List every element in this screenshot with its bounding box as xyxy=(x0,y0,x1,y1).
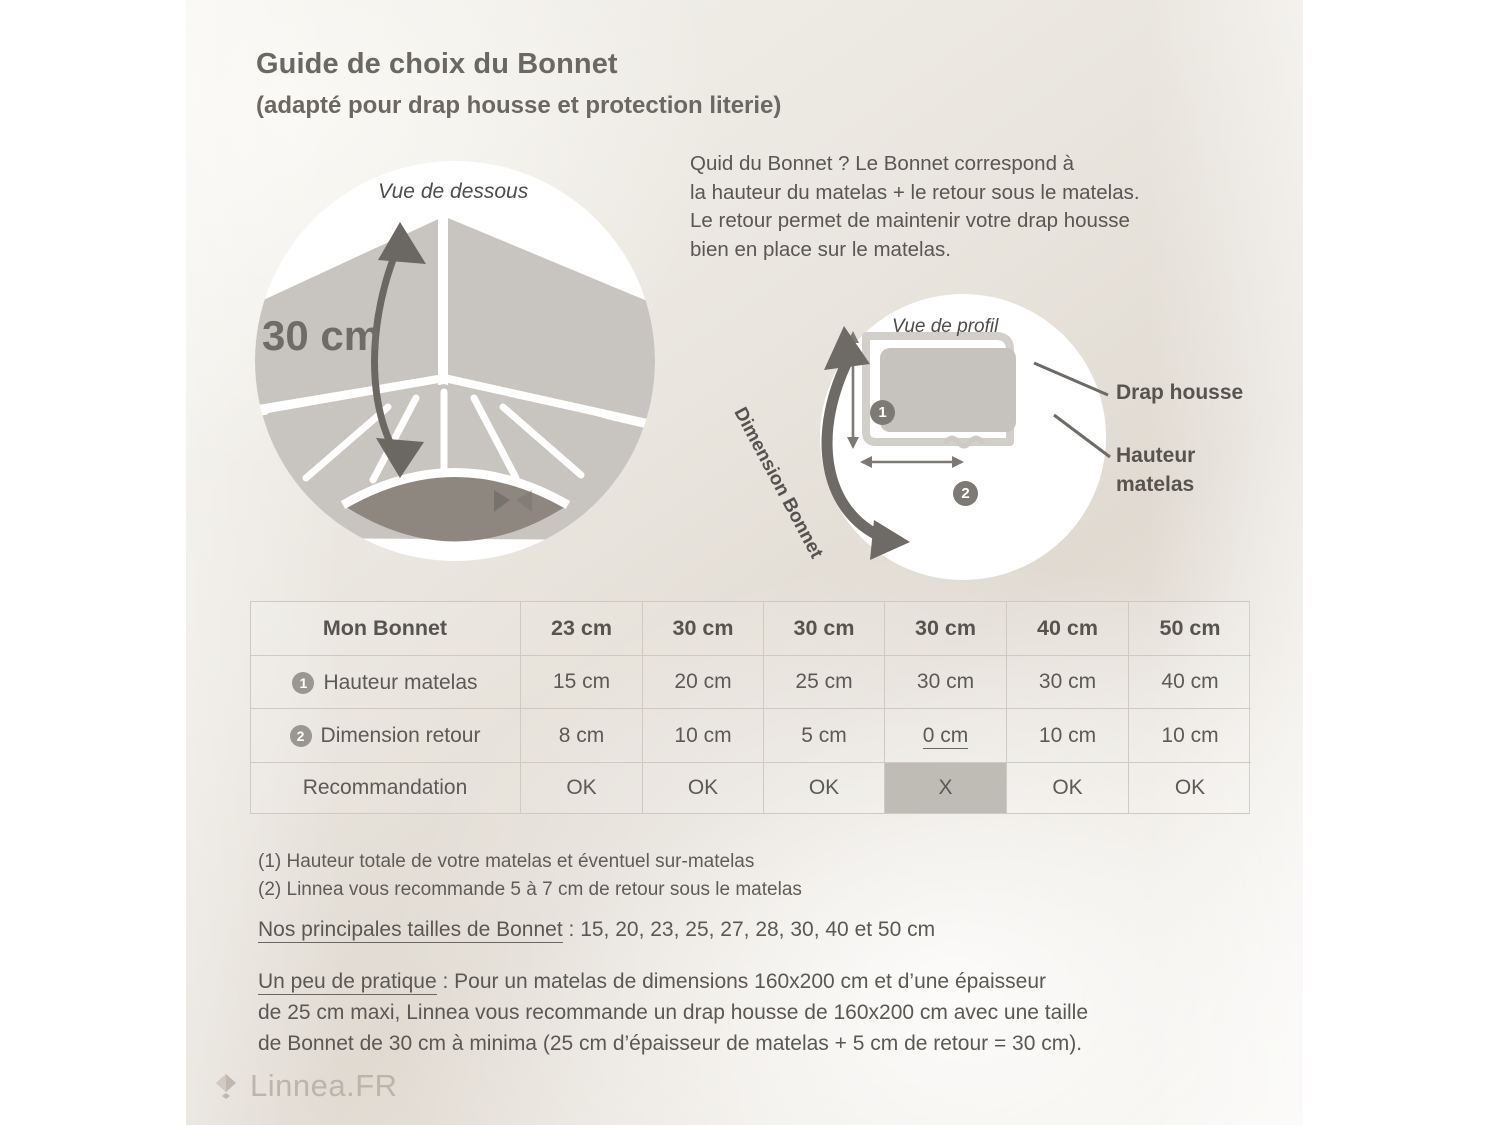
practice-line-3: de Bonnet de 30 cm à minima (25 cm d’épa… xyxy=(258,1028,1088,1059)
page-title: Guide de choix du Bonnet xyxy=(256,48,618,81)
callout-hauteur-line-1: Hauteur xyxy=(1116,441,1195,470)
table-cell: OK xyxy=(1007,763,1129,813)
footnotes: (1) Hauteur totale de votre matelas et é… xyxy=(258,848,802,904)
table-header-cell: 30 cm xyxy=(885,602,1007,656)
table-header-row-label: Mon Bonnet xyxy=(251,602,521,656)
bottom-view-diagram xyxy=(248,160,663,562)
table-cell-underlined: 0 cm xyxy=(923,724,969,749)
table-cell: 15 cm xyxy=(521,656,643,710)
table-cell: 30 cm xyxy=(1007,656,1129,710)
table-cell: 10 cm xyxy=(1007,709,1129,763)
table-row: 2 Dimension retour 8 cm 10 cm 5 cm 0 cm … xyxy=(251,709,1251,763)
sizes-values: : 15, 20, 23, 25, 27, 28, 30, 40 et 50 c… xyxy=(563,918,935,941)
table-cell: 8 cm xyxy=(521,709,643,763)
row-badge-1: 1 xyxy=(292,672,314,694)
sizes-underlined-label: Nos principales tailles de Bonnet xyxy=(258,918,563,943)
logo-text: Linnea.FR xyxy=(250,1068,398,1104)
table-cell: 20 cm xyxy=(643,656,764,710)
bonnet-table: Mon Bonnet 23 cm 30 cm 30 cm 30 cm 40 cm… xyxy=(250,601,1250,814)
intro-paragraph: Quid du Bonnet ? Le Bonnet correspond à … xyxy=(690,150,1140,264)
table-header-cell: 30 cm xyxy=(764,602,885,656)
footnote-2: (2) Linnea vous recommande 5 à 7 cm de r… xyxy=(258,876,802,904)
intro-line-4: bien en place sur le matelas. xyxy=(690,236,1140,265)
callout-hauteur-line-2: matelas xyxy=(1116,470,1195,499)
sizes-line: Nos principales tailles de Bonnet : 15, … xyxy=(258,918,935,942)
profile-badge-2: 2 xyxy=(953,481,978,506)
table-header-cell: 40 cm xyxy=(1007,602,1129,656)
page-subtitle: (adapté pour drap housse et protection l… xyxy=(256,92,781,120)
callout-hauteur-matelas: Hauteur matelas xyxy=(1116,441,1195,499)
table-row-label: Recommandation xyxy=(251,763,521,813)
practice-line-1-rest: : Pour un matelas de dimensions 160x200 … xyxy=(437,970,1046,993)
intro-line-1: Quid du Bonnet ? Le Bonnet correspond à xyxy=(690,150,1140,179)
table-cell: 5 cm xyxy=(764,709,885,763)
row-label-text: Dimension retour xyxy=(321,724,481,748)
table-cell: OK xyxy=(643,763,764,813)
diamond-leaf-icon xyxy=(214,1073,238,1099)
intro-line-2: la hauteur du matelas + le retour sous l… xyxy=(690,179,1140,208)
table-cell: 10 cm xyxy=(1129,709,1251,763)
row-label-text: Hauteur matelas xyxy=(323,671,477,695)
table-cell-not-recommended: X xyxy=(885,763,1007,813)
table-cell: 10 cm xyxy=(643,709,764,763)
profile-badge-1: 1 xyxy=(870,400,895,425)
row-badge-2: 2 xyxy=(290,725,312,747)
practice-underlined-label: Un peu de pratique xyxy=(258,970,437,995)
table-row: 1 Hauteur matelas 15 cm 20 cm 25 cm 30 c… xyxy=(251,656,1251,710)
bottom-view-caption: Vue de dessous xyxy=(378,180,528,204)
table-cell: 25 cm xyxy=(764,656,885,710)
profile-view-caption: Vue de profil xyxy=(892,316,998,338)
table-header-cell: 50 cm xyxy=(1129,602,1251,656)
table-cell: OK xyxy=(764,763,885,813)
table-cell: 0 cm xyxy=(885,709,1007,763)
callout-leader-lines xyxy=(1030,355,1125,495)
practice-line-1: Un peu de pratique : Pour un matelas de … xyxy=(258,966,1088,997)
table-header-cell: 30 cm xyxy=(643,602,764,656)
table-row-label: 2 Dimension retour xyxy=(251,709,521,763)
table-row: Recommandation OK OK OK X OK OK xyxy=(251,763,1251,813)
table-cell: 30 cm xyxy=(885,656,1007,710)
practice-block: Un peu de pratique : Pour un matelas de … xyxy=(258,966,1088,1059)
table-row-header: Mon Bonnet 23 cm 30 cm 30 cm 30 cm 40 cm… xyxy=(251,602,1251,656)
table-cell: 40 cm xyxy=(1129,656,1251,710)
linnea-logo[interactable]: Linnea.FR xyxy=(214,1068,398,1104)
table-header-cell: 23 cm xyxy=(521,602,643,656)
table-cell: OK xyxy=(521,763,643,813)
table-cell: OK xyxy=(1129,763,1251,813)
practice-line-2: de 25 cm maxi, Linnea vous recommande un… xyxy=(258,997,1088,1028)
table-row-label: 1 Hauteur matelas xyxy=(251,656,521,710)
intro-line-3: Le retour permet de maintenir votre drap… xyxy=(690,207,1140,236)
callout-drap-housse: Drap housse xyxy=(1116,381,1243,405)
bonnet-measure-label: 30 cm xyxy=(262,312,381,360)
footnote-1: (1) Hauteur totale de votre matelas et é… xyxy=(258,848,802,876)
infographic-root: Guide de choix du Bonnet (adapté pour dr… xyxy=(0,0,1500,1125)
